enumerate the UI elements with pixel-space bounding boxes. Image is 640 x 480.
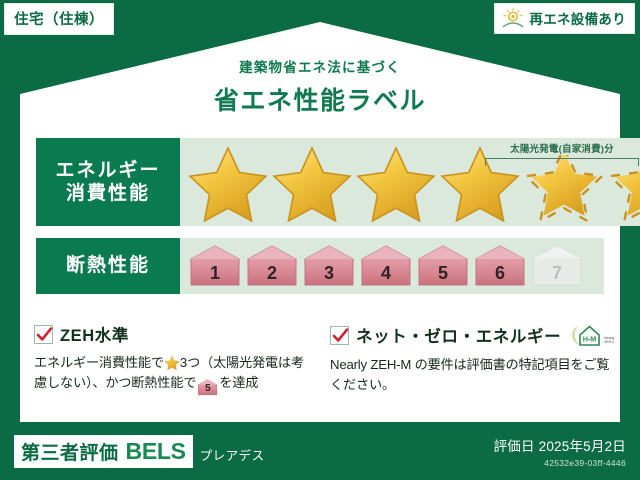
criteria-zeh-column: ZEH水準 エネルギー消費性能で3つ（太陽光発電は考慮しない）、かつ断熱性能で5… [34,322,312,396]
building-type-tag: 住宅（住棟） [4,3,114,35]
zeh-text-part3: を達成 [219,375,258,390]
eval-id: 42532e39-03ff-4446 [494,458,626,468]
renewable-equipment-label: 再エネ設備あり [529,8,626,28]
criteria-section: ZEH水準 エネルギー消費性能で3つ（太陽光発電は考慮しない）、かつ断熱性能で5… [34,322,610,396]
check-icon [36,326,53,343]
star-filled-3 [354,142,438,222]
zeh-description: エネルギー消費性能で3つ（太陽光発電は考慮しない）、かつ断熱性能で5を達成 [34,353,312,396]
eval-date-label: 評価日 [494,439,535,454]
renewable-equipment-tag: 再エネ設備あり [494,3,635,34]
insulation-badges-area: 1 2 3 4 [180,238,604,294]
insulation-badge: 2 [245,244,299,288]
insulation-badge: 5 [416,244,470,288]
third-party-eval-label: 第三者評価 [21,438,119,465]
star-icon [164,355,180,370]
insulation-badge-value: 5 [438,263,448,288]
nearly-zeh-m-house-logo-icon: H-M Nearly ZEH-M [570,322,614,348]
bels-logo-text: BELS [126,438,186,465]
insulation-badge: 3 [302,244,356,288]
energy-performance-row: エネルギー 消費性能 [36,138,604,226]
building-type-label: 住宅（住棟） [14,12,104,28]
zeh-text-part1: エネルギー消費性能で [34,355,164,370]
label-title: 省エネ性能ラベル [0,81,640,117]
footer-eval-block: 評価日 2025年5月2日 42532e39-03ff-4446 [494,435,626,468]
bels-badge: 第三者評価 BELS [14,435,193,468]
eval-date-line: 評価日 2025年5月2日 [494,435,626,455]
check-icon [332,327,349,344]
star-filled-1 [186,142,270,222]
criteria-netzero-header: ネット・ゼロ・エネルギー H-M Nearly ZEH-M [330,322,610,348]
energy-label-line1: エネルギー [55,159,160,182]
label-subtitle: 建築物省エネ法に基づく [0,56,640,76]
criteria-netzero-column: ネット・ゼロ・エネルギー H-M Nearly ZEH-M Nearly ZEH… [330,322,610,396]
insulation-badge-value: 2 [267,263,277,288]
insulation-badge-value: 7 [552,263,562,288]
insulation-performance-row-label: 断熱性能 [36,238,180,294]
eval-date-value: 2025年5月2日 [539,439,626,454]
zeh-inline-insulation-badge: 5 [197,379,218,396]
energy-stars-area: 太陽光発電(自家消費)分 [180,138,640,226]
netzero-checkbox[interactable] [330,326,349,345]
star-rating [186,142,640,222]
star-solar-dashed-2 [606,142,640,222]
energy-performance-label: 住宅（住棟） 再エネ設備あり 建築物省エネ法に基づく 省エネ性能ラベル エネルギ… [0,0,640,480]
title-block: 建築物省エネ法に基づく 省エネ性能ラベル [0,56,640,117]
energy-label-line2: 消費性能 [66,182,150,205]
insulation-badge-inactive: 7 [530,244,584,288]
insulation-badge: 1 [188,244,242,288]
insulation-badge-value: 1 [210,263,220,288]
zeh-inline-badge-value: 5 [197,379,218,399]
netzero-description: Nearly ZEH-M の要件は評価書の特記項目をご覧ください。 [330,355,610,396]
svg-text:ZEH-M: ZEH-M [604,340,614,344]
insulation-badge-value: 4 [381,263,391,288]
brand-name: プレアデス [200,445,265,468]
netzero-title: ネット・ゼロ・エネルギー [356,323,561,347]
criteria-zeh-header: ZEH水準 [34,322,312,346]
star-solar-dashed-1 [522,142,606,222]
zeh-checkbox[interactable] [34,325,53,344]
insulation-badge-value: 3 [324,263,334,288]
insulation-badge-value: 6 [495,263,505,288]
sun-renewable-icon [501,7,525,29]
star-filled-4 [438,142,522,222]
zeh-title: ZEH水準 [60,322,129,346]
star-filled-2 [270,142,354,222]
insulation-badge: 6 [473,244,527,288]
insulation-badge: 4 [359,244,413,288]
insulation-performance-row: 断熱性能 1 2 [36,238,604,294]
footer-bels-block: 第三者評価 BELS プレアデス [14,435,265,468]
insulation-badge-list: 1 2 3 4 [188,244,584,288]
svg-text:H-M: H-M [583,335,597,344]
energy-performance-row-label: エネルギー 消費性能 [36,138,180,226]
